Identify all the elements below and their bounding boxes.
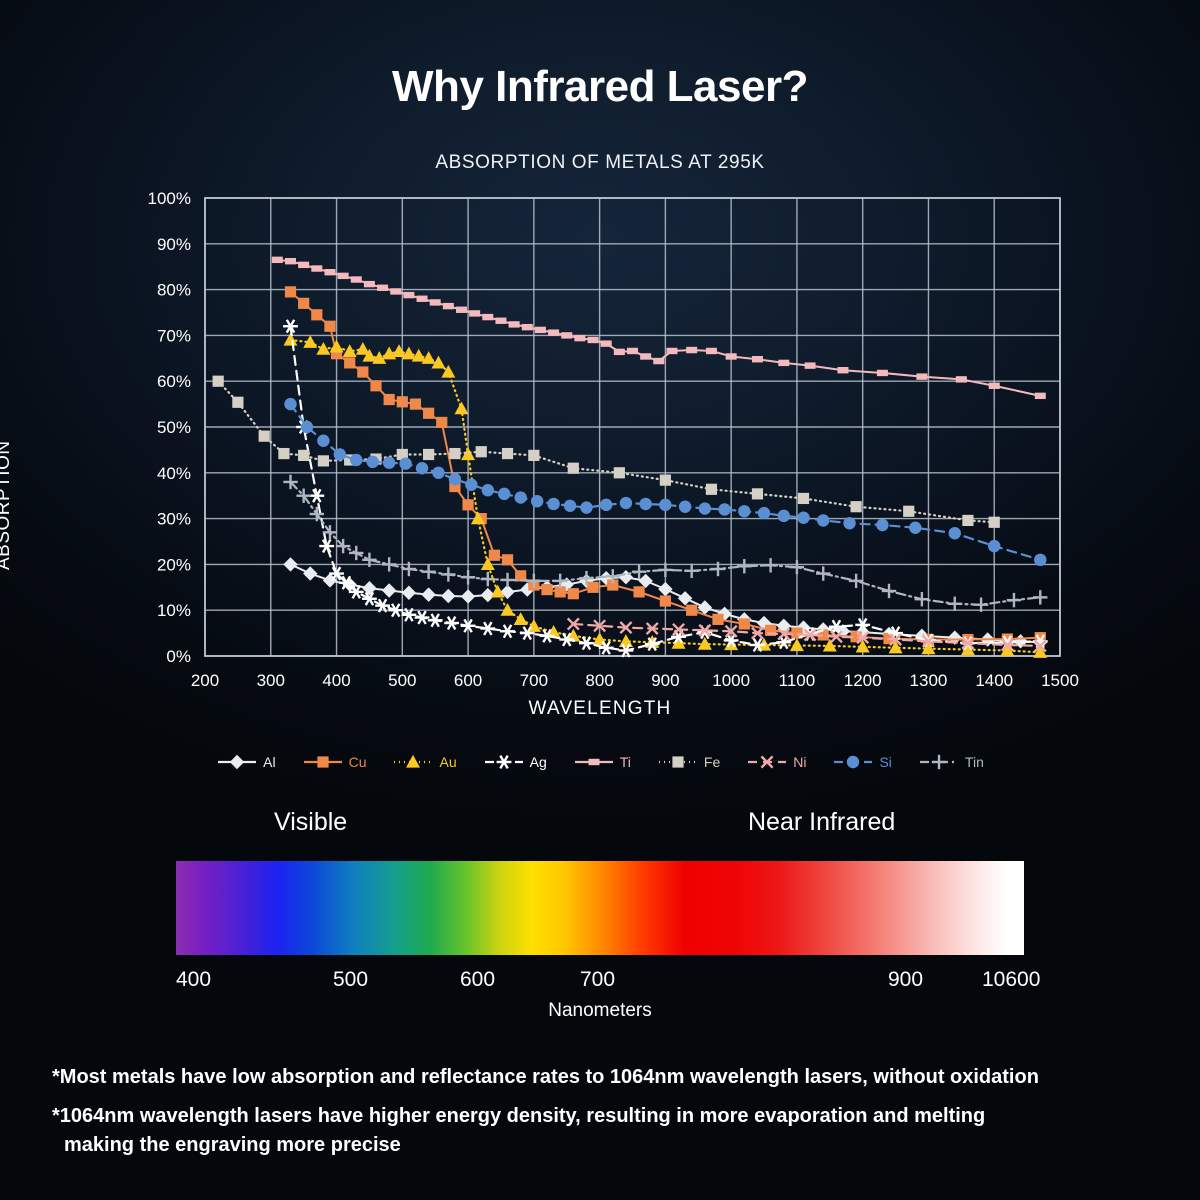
marker-circle [432,467,444,479]
marker-square-small [403,292,414,298]
marker-square-small [390,288,401,294]
marker-square [285,286,296,297]
marker-asterisk [428,614,443,627]
marker-plus [816,566,830,580]
legend-label: Ni [793,754,806,770]
marker-circle [399,457,411,469]
marker-square [489,550,500,561]
marker-square [410,399,421,410]
marker-plus [349,546,363,560]
marker-triangle [514,612,528,625]
marker-diamond [362,581,376,595]
spectrum-tick-10600: 10600 [982,968,1040,992]
marker-square-small [351,276,362,282]
marker-square-small [443,303,454,309]
marker-square-small [989,383,1000,389]
marker-circle [564,500,576,512]
marker-asterisk [579,637,594,650]
legend-swatch-al [216,753,258,771]
marker-circle [659,499,671,511]
marker-circle [600,499,612,511]
marker-circle [797,511,809,523]
marker-plus [737,559,751,573]
marker-circle [465,479,477,491]
series-group [213,257,1048,658]
y-tick-label: 50% [157,418,191,437]
footnote: *1064nm wavelength lasers have higher en… [52,1102,1162,1159]
marker-square-small [417,296,428,302]
marker-square-small [686,347,697,353]
x-tick-label: 1100 [779,671,816,690]
marker-diamond [441,589,455,603]
marker-square-small [1035,393,1046,399]
marker-square [614,467,625,478]
y-tick-label: 30% [157,510,191,529]
marker-square-small [706,348,717,354]
legend-item-ni: Ni [746,753,806,771]
marker-square-small [285,258,296,264]
footnote-line: *Most metals have low absorption and ref… [52,1066,1039,1088]
marker-square [587,582,598,593]
x-tick-label: 700 [520,671,548,690]
marker-triangle [501,603,515,616]
marker-square-small [627,348,638,354]
marker-square-small [548,329,559,335]
marker-square [397,396,408,407]
spectrum-band-labels: Visible Near Infrared [0,808,1200,844]
marker-circle [301,421,313,433]
marker-square [278,448,289,459]
marker-square-small [522,324,533,330]
legend-swatch-ag [483,753,525,771]
marker-plus [1007,593,1021,607]
marker-plus [882,584,896,598]
chart-svg: 0%10%20%30%40%50%60%70%80%90%100%2003004… [0,180,1200,780]
y-tick-label: 80% [157,281,191,300]
marker-circle [531,495,543,507]
footnotes: *Most metals have low absorption and ref… [52,1063,1162,1170]
legend-item-ti: Ti [573,753,631,771]
marker-square [989,517,1000,528]
y-tick-label: 40% [157,464,191,483]
x-tick-label: 1400 [975,671,1013,690]
marker-square-small [469,310,480,316]
marker-diamond [303,566,317,580]
marker-square-small [561,332,572,338]
absorption-chart: 0%10%20%30%40%50%60%70%80%90%100%2003004… [0,180,1200,780]
marker-asterisk [480,622,495,635]
x-tick-label: 800 [585,671,613,690]
marker-asterisk [697,626,712,639]
marker-circle [758,507,770,519]
marker-square [344,357,355,368]
marker-square [298,298,309,309]
marker-plus [684,564,698,578]
marker-circle [738,505,750,517]
marker-square [686,605,697,616]
marker-plus [790,560,804,574]
marker-asterisk [415,611,430,624]
legend-swatch-cu [302,753,344,771]
marker-square-small [456,307,467,313]
marker-plus [296,489,310,503]
x-tick-label: 200 [191,671,219,690]
chart-subtitle: ABSORPTION OF METALS AT 295K [0,152,1200,174]
spectrum-caption: Nanometers [0,1000,1200,1022]
marker-square-small [614,349,625,355]
marker-circle [718,503,730,515]
marker-square [739,618,750,629]
legend-item-ag: Ag [483,753,547,771]
marker-circle [416,462,428,474]
marker-square [528,450,539,461]
marker-diamond [421,587,435,601]
marker-circle [547,498,559,510]
marker-square [259,431,270,442]
marker-square-small [588,759,599,765]
marker-square [476,446,487,457]
legend-item-cu: Cu [302,753,367,771]
marker-plus [461,570,475,584]
marker-square [672,756,683,767]
marker-triangle [619,634,633,647]
marker-circle [498,488,510,500]
marker-square-small [338,273,349,279]
y-tick-label: 20% [157,555,191,574]
marker-square [318,455,329,466]
marker-diamond [283,557,297,571]
marker-square [568,588,579,599]
spectrum-tick-400: 400 [176,968,211,992]
y-tick-label: 60% [157,372,191,391]
footnote-line: *1064nm wavelength lasers have higher en… [52,1105,985,1127]
marker-asterisk [388,604,403,617]
x-tick-label: 1200 [844,671,882,690]
marker-circle [847,756,859,768]
x-tick-label: 1500 [1041,671,1079,690]
marker-square-small [324,269,335,275]
marker-square [502,448,513,459]
marker-triangle [392,344,406,357]
x-tick-label: 1300 [910,671,948,690]
marker-plus [441,567,455,581]
marker-circle [580,501,592,513]
marker-square [423,408,434,419]
marker-square-small [364,281,375,287]
marker-square [423,449,434,460]
marker-square [903,506,914,517]
legend-swatch-ti [573,753,615,771]
marker-square [370,380,381,391]
marker-square-small [588,337,599,343]
marker-square-small [482,314,493,320]
marker-circle [909,522,921,534]
marker-circle [778,510,790,522]
marker-square-small [726,353,737,359]
marker-square-small [877,370,888,376]
marker-circle [383,457,395,469]
x-tick-label: 900 [651,671,679,690]
marker-triangle [330,340,344,353]
legend-swatch-fe [657,753,699,771]
marker-circle [876,519,888,531]
marker-square-small [666,348,677,354]
marker-square-small [574,335,585,341]
marker-square-small [535,327,546,333]
marker-square [324,321,335,332]
marker-circle [639,498,651,510]
marker-triangle [461,447,475,460]
marker-circle [317,435,329,447]
marker-plus [763,558,777,572]
chart-legend: AlCuAuAgTiFeNiSiTin [0,753,1200,771]
spectrum-bar [176,861,1024,955]
marker-square-small [272,257,283,263]
marker-square [311,309,322,320]
marker-diamond [658,582,672,596]
legend-item-al: Al [216,753,275,771]
marker-square [436,417,447,428]
marker-diamond [461,589,475,603]
marker-circle [514,491,526,503]
marker-diamond [638,574,652,588]
marker-square [384,394,395,405]
y-axis-title: ABSORPTION [0,440,15,570]
marker-plus [500,573,514,587]
marker-square-small [805,362,816,368]
legend-swatch-tin [918,753,960,771]
marker-square [502,554,513,565]
marker-plus [915,592,929,606]
x-tick-label: 1000 [712,671,750,690]
legend-label: Ti [620,754,631,770]
marker-plus [849,574,863,588]
legend-label: Cu [349,754,367,770]
marker-asterisk [496,756,511,769]
marker-diamond [619,570,633,584]
marker-circle [679,500,691,512]
marker-square-small [956,376,967,382]
marker-circle [843,517,855,529]
legend-item-si: Si [832,753,891,771]
spectrum-tick-600: 600 [460,968,495,992]
marker-square [298,450,309,461]
marker-diamond [402,586,416,600]
marker-square-small [377,285,388,291]
legend-label: Ag [530,754,547,770]
spectrum-tick-500: 500 [333,968,368,992]
marker-square [633,586,644,597]
marker-square [712,614,723,625]
y-tick-label: 70% [157,326,191,345]
marker-plus [1033,590,1047,604]
marker-diamond [230,755,244,769]
marker-square [660,595,671,606]
marker-square [706,484,717,495]
marker-square [449,448,460,459]
spectrum-tick-900: 900 [888,968,923,992]
marker-square-small [430,299,441,305]
marker-square-small [778,360,789,366]
marker-triangle [455,401,469,414]
marker-asterisk [500,625,515,638]
marker-square-small [298,262,309,268]
marker-square [232,397,243,408]
marker-square [568,463,579,474]
legend-swatch-au [392,753,434,771]
marker-circle [350,454,362,466]
x-tick-label: 500 [388,671,416,690]
legend-label: Al [263,754,275,770]
marker-triangle [406,755,420,768]
marker-circle [817,514,829,526]
marker-square-small [509,321,520,327]
marker-plus [948,597,962,611]
x-tick-label: 400 [322,671,350,690]
legend-item-au: Au [392,753,456,771]
marker-square [357,366,368,377]
marker-square-small [752,356,763,362]
marker-asterisk [444,617,459,630]
marker-diamond [382,583,396,597]
marker-square [317,756,328,767]
marker-square [541,584,552,595]
marker-square-small [640,353,651,359]
legend-label: Tin [965,754,984,770]
footnote: *Most metals have low absorption and ref… [52,1063,1162,1091]
y-tick-label: 90% [157,235,191,254]
grid-lines [205,198,1060,656]
legend-label: Fe [704,754,720,770]
marker-square-small [837,367,848,373]
legend-label: Au [439,754,456,770]
marker-circle [334,448,346,460]
marker-square-small [653,358,664,364]
marker-square-small [495,318,506,324]
marker-plus [382,557,396,571]
marker-circle [449,473,461,485]
page-title: Why Infrared Laser? [0,62,1200,112]
marker-circle [949,527,961,539]
infographic-page: Why Infrared Laser? ABSORPTION OF METALS… [0,0,1200,1200]
marker-square [213,376,224,387]
y-tick-label: 10% [157,601,191,620]
marker-circle [367,456,379,468]
footnote-line-continued: making the engraving more precise [52,1131,1162,1159]
x-tick-label: 300 [257,671,285,690]
marker-circle [620,497,632,509]
series-ti [272,257,1046,399]
marker-circle [699,502,711,514]
label-near-infrared: Near Infrared [748,808,895,837]
y-tick-label: 100% [148,189,191,208]
marker-plus [932,755,946,769]
legend-item-fe: Fe [657,753,720,771]
marker-diamond [678,591,692,605]
marker-circle [482,484,494,496]
marker-square [660,475,671,486]
marker-circle [284,398,296,410]
marker-circle [1034,554,1046,566]
legend-item-tin: Tin [918,753,984,771]
spectrum-tick-700: 700 [580,968,615,992]
marker-square [851,501,862,512]
marker-plus [421,565,435,579]
marker-square [962,515,973,526]
marker-square-small [601,340,612,346]
marker-square [752,488,763,499]
marker-square-small [916,373,927,379]
label-visible: Visible [274,808,347,837]
marker-square [798,493,809,504]
y-tick-label: 0% [166,647,191,666]
x-tick-label: 600 [454,671,482,690]
x-axis-title: WAVELENGTH [0,698,1200,720]
legend-swatch-ni [746,753,788,771]
legend-swatch-si [832,753,874,771]
marker-square [462,499,473,510]
legend-label: Si [879,754,891,770]
marker-plus [481,572,495,586]
marker-square-small [311,265,322,271]
marker-circle [988,540,1000,552]
